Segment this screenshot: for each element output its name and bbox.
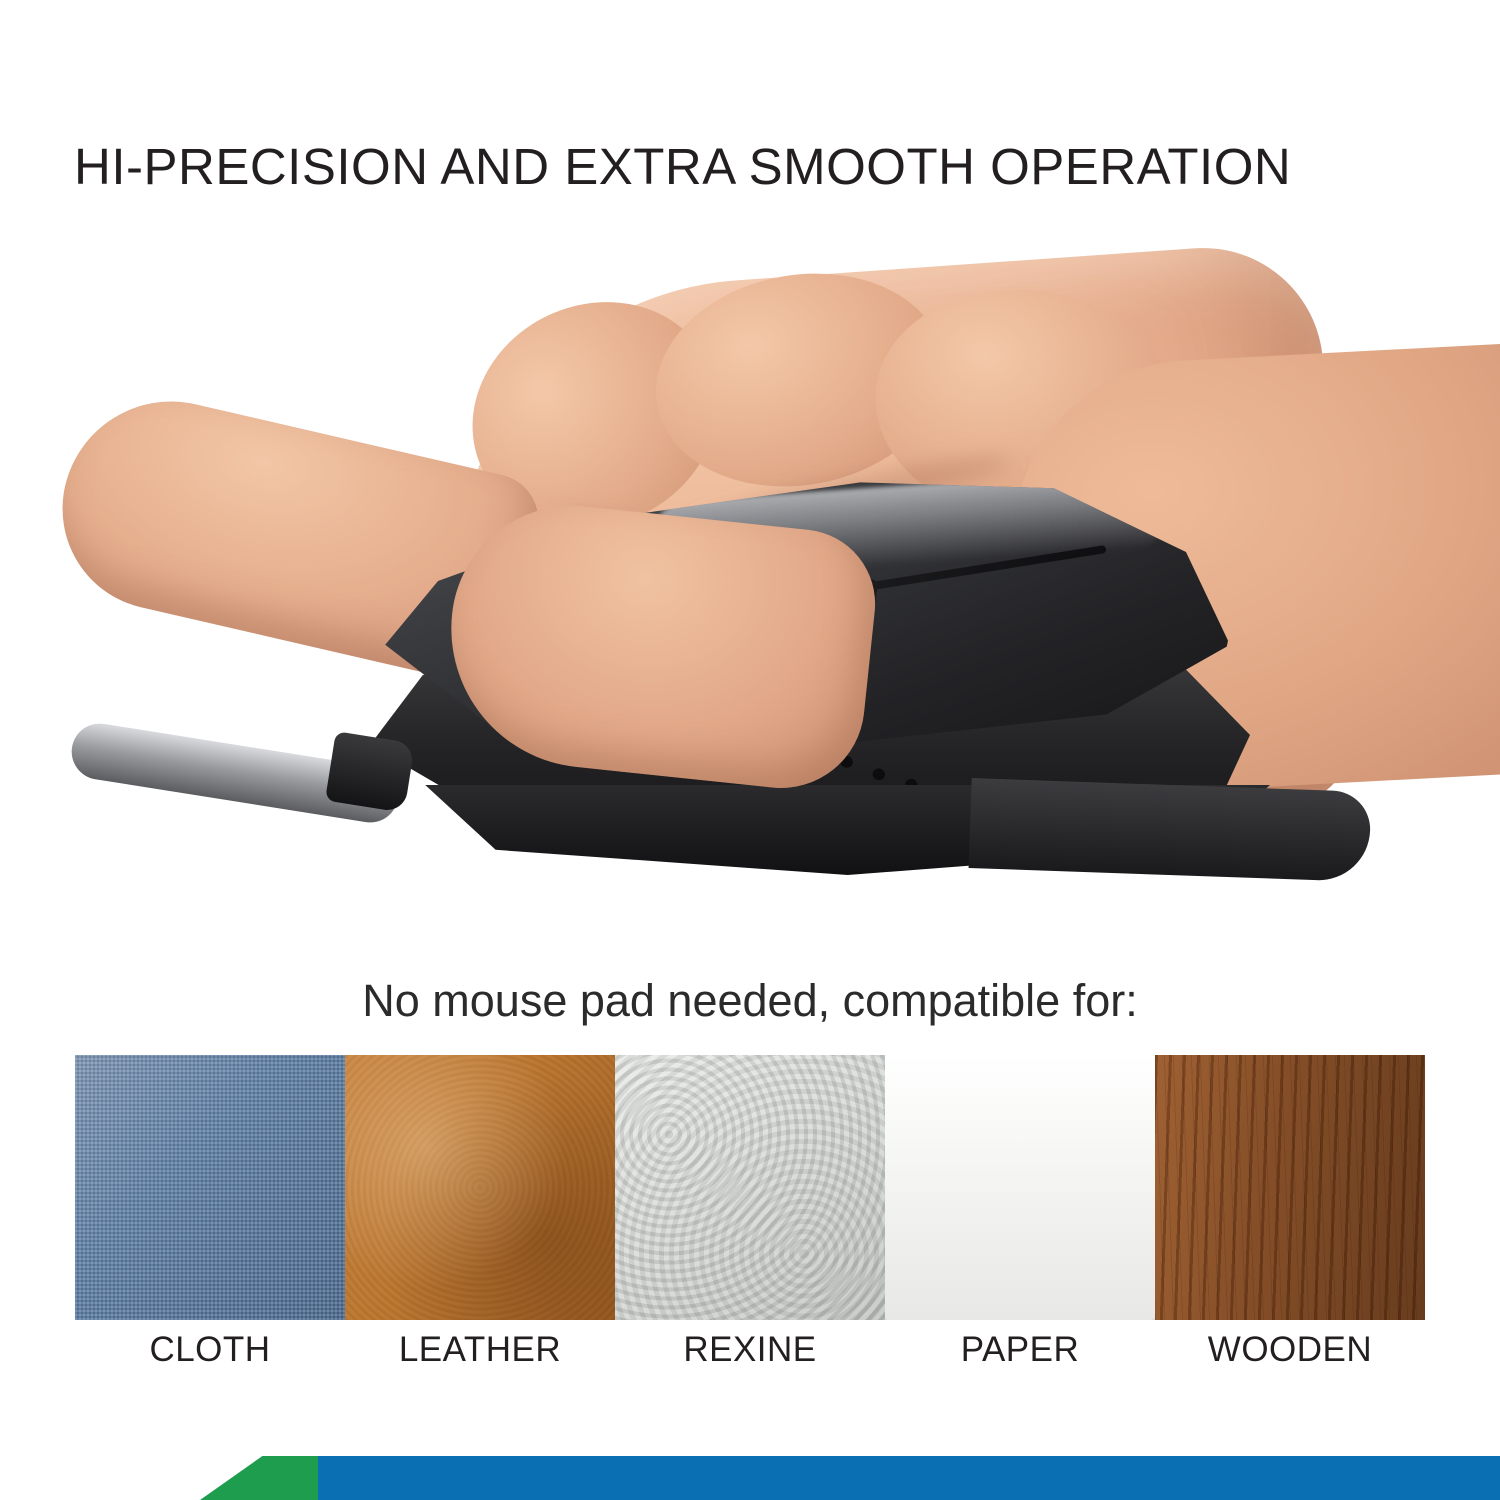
compatibility-subtitle: No mouse pad needed, compatible for: — [0, 975, 1500, 1027]
hero-product-photo — [0, 215, 1500, 955]
swatch-label-cloth: CLOTH — [75, 1330, 345, 1370]
swatch-cloth — [75, 1055, 345, 1320]
footer-accent-blue — [318, 1456, 1500, 1500]
swatch-rexine — [615, 1055, 885, 1320]
swatch-leather — [345, 1055, 615, 1320]
swatch-label-paper: PAPER — [885, 1330, 1155, 1370]
swatch-label-rexine: REXINE — [615, 1330, 885, 1370]
footer-accent-green — [200, 1456, 320, 1500]
swatch-label-leather: LEATHER — [345, 1330, 615, 1370]
swatch-label-wooden: WOODEN — [1155, 1330, 1425, 1370]
mouse-rear-shell — [969, 778, 1372, 882]
footer-accent-bar — [0, 1456, 1500, 1500]
surface-swatch-strip — [75, 1055, 1425, 1320]
swatch-paper — [885, 1055, 1155, 1320]
mouse-cable-strain-relief — [325, 731, 415, 813]
swatch-wooden — [1155, 1055, 1425, 1320]
page-title: HI-PRECISION AND EXTRA SMOOTH OPERATION — [74, 140, 1434, 194]
surface-label-row: CLOTH LEATHER REXINE PAPER WOODEN — [75, 1330, 1425, 1370]
product-infographic: HI-PRECISION AND EXTRA SMOOTH OPERATION — [0, 0, 1500, 1500]
